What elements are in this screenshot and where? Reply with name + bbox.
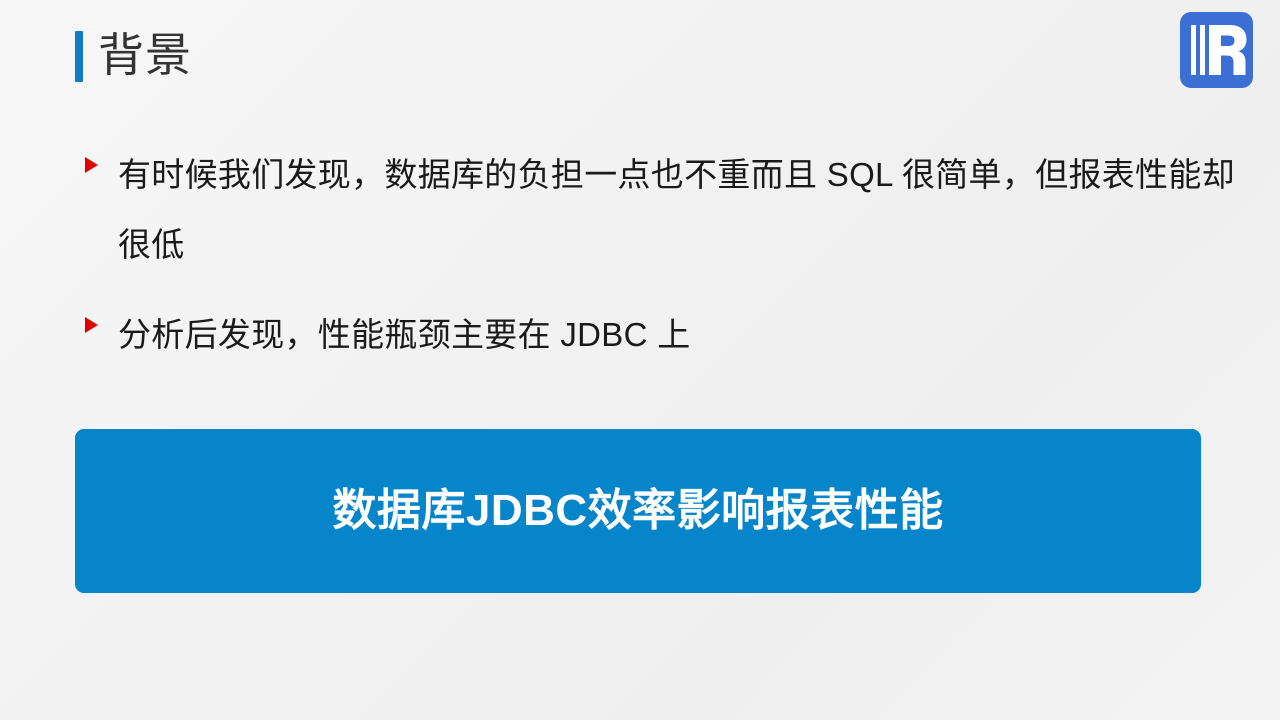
bullet-text: 分析后发现，性能瓶颈主要在 JDBC 上 [118, 300, 1235, 370]
list-item: 分析后发现，性能瓶颈主要在 JDBC 上 [75, 300, 1235, 370]
page-title: 背景 [98, 24, 192, 86]
company-logo [1180, 12, 1253, 88]
slide: 背景 有时候我们发现，数据库的负担一点也不重而且 SQL 很简单，但报表性能却很… [0, 0, 1280, 720]
slide-header: 背景 [0, 0, 1280, 110]
title-accent-bar [75, 31, 83, 82]
list-item: 有时候我们发现，数据库的负担一点也不重而且 SQL 很简单，但报表性能却很低 [75, 140, 1235, 280]
conclusion-banner: 数据库JDBC效率影响报表性能 [75, 429, 1201, 593]
logo-r-icon [1180, 12, 1253, 88]
bullet-list: 有时候我们发现，数据库的负担一点也不重而且 SQL 很简单，但报表性能却很低 分… [75, 140, 1235, 390]
triangle-bullet-icon [85, 157, 98, 173]
bullet-text: 有时候我们发现，数据库的负担一点也不重而且 SQL 很简单，但报表性能却很低 [118, 140, 1235, 280]
triangle-bullet-icon [85, 317, 98, 333]
banner-text: 数据库JDBC效率影响报表性能 [332, 487, 943, 535]
